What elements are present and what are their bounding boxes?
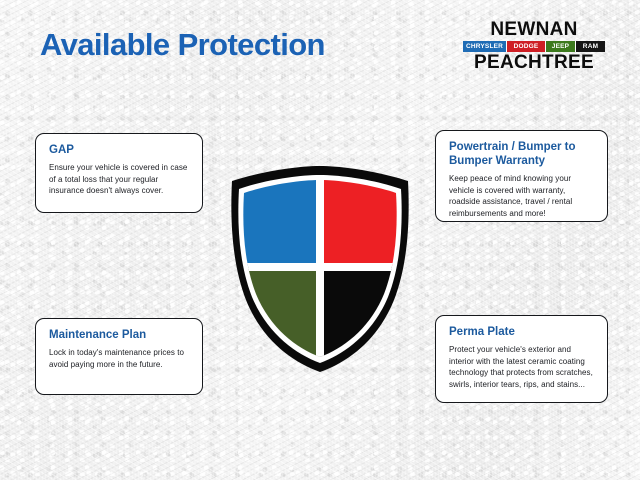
logo-bottom-text: PEACHTREE [460, 53, 608, 73]
brand-chip-chrysler: CHRYSLER [463, 41, 507, 52]
brand-chip-ram: RAM [576, 41, 605, 52]
card-gap-title: GAP [49, 143, 190, 157]
logo-top-text: NEWNAN [460, 20, 608, 40]
shield-icon [216, 160, 424, 375]
card-gap: GAP Ensure your vehicle is covered in ca… [35, 133, 203, 213]
slide-canvas: Available Protection NEWNAN CHRYSLER DOD… [0, 0, 640, 480]
card-perma-plate-title: Perma Plate [449, 325, 595, 339]
brand-chip-jeep: JEEP [546, 41, 576, 52]
card-gap-body: Ensure your vehicle is covered in case o… [49, 162, 190, 197]
card-powertrain-warranty-body: Keep peace of mind knowing your vehicle … [449, 173, 595, 219]
card-maintenance-plan: Maintenance Plan Lock in today's mainten… [35, 318, 203, 395]
brand-chip-dodge: DODGE [507, 41, 546, 52]
card-perma-plate-body: Protect your vehicle's exterior and inte… [449, 344, 595, 390]
page-title: Available Protection [40, 27, 325, 63]
card-perma-plate: Perma Plate Protect your vehicle's exter… [435, 315, 608, 403]
card-maintenance-plan-title: Maintenance Plan [49, 328, 190, 342]
brand-strip: CHRYSLER DODGE JEEP RAM [463, 41, 605, 52]
dealership-logo: NEWNAN CHRYSLER DODGE JEEP RAM PEACHTREE [460, 20, 608, 73]
card-maintenance-plan-body: Lock in today's maintenance prices to av… [49, 347, 190, 370]
card-powertrain-warranty: Powertrain / Bumper to Bumper Warranty K… [435, 130, 608, 222]
card-powertrain-warranty-title: Powertrain / Bumper to Bumper Warranty [449, 140, 595, 168]
